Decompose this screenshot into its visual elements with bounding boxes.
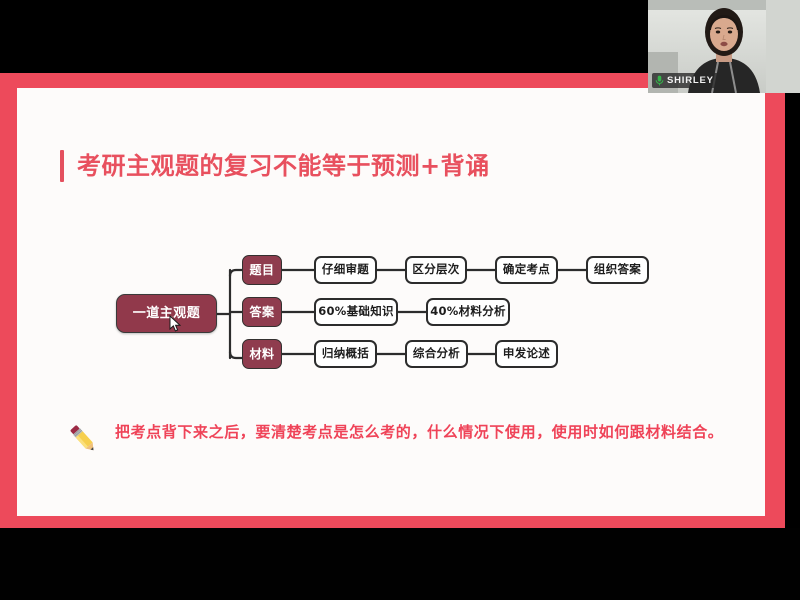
diagram-step-node[interactable]: 申发论述 xyxy=(495,340,558,368)
slide-note: 把考点背下来之后，要清楚考点是怎么考的，什么情况下使用，使用时如何跟材料结合。 xyxy=(65,419,725,457)
microphone-icon xyxy=(655,75,664,86)
title-accent-bar xyxy=(60,150,64,182)
slide-title-row: 考研主观题的复习不能等于预测+背诵 xyxy=(60,150,490,182)
diagram-step-node[interactable]: 确定考点 xyxy=(495,256,558,284)
diagram-branch-node-1[interactable]: 题目 xyxy=(242,255,282,285)
diagram-step-node[interactable]: 综合分析 xyxy=(405,340,468,368)
screen-share-stage: 考研主观题的复习不能等于预测+背诵 xyxy=(0,0,800,600)
diagram-step-node[interactable]: 60%基础知识 xyxy=(314,298,398,326)
slide-red-frame: 考研主观题的复习不能等于预测+背诵 xyxy=(0,73,785,528)
diagram-step-node[interactable]: 仔细审题 xyxy=(314,256,377,284)
page-title: 考研主观题的复习不能等于预测+背诵 xyxy=(77,154,490,178)
pencil-icon xyxy=(65,421,101,457)
diagram-root-node[interactable]: 一道主观题 xyxy=(116,294,217,333)
letterbox-bottom xyxy=(0,528,800,600)
participant-name-badge: SHIRLEY xyxy=(652,73,720,88)
diagram-step-node[interactable]: 区分层次 xyxy=(405,256,467,284)
diagram-branch-node-2[interactable]: 答案 xyxy=(242,297,282,327)
note-text: 把考点背下来之后，要清楚考点是怎么考的，什么情况下使用，使用时如何跟材料结合。 xyxy=(115,419,723,445)
diagram-step-node[interactable]: 归纳概括 xyxy=(314,340,377,368)
diagram-step-node[interactable]: 40%材料分析 xyxy=(426,298,510,326)
diagram-step-node[interactable]: 组织答案 xyxy=(586,256,649,284)
slide-page: 考研主观题的复习不能等于预测+背诵 xyxy=(17,88,765,516)
diagram-branch-node-3[interactable]: 材料 xyxy=(242,339,282,369)
participant-video-tile[interactable]: SHIRLEY xyxy=(648,0,800,93)
participant-name: SHIRLEY xyxy=(667,76,714,86)
mouse-cursor xyxy=(169,315,181,333)
